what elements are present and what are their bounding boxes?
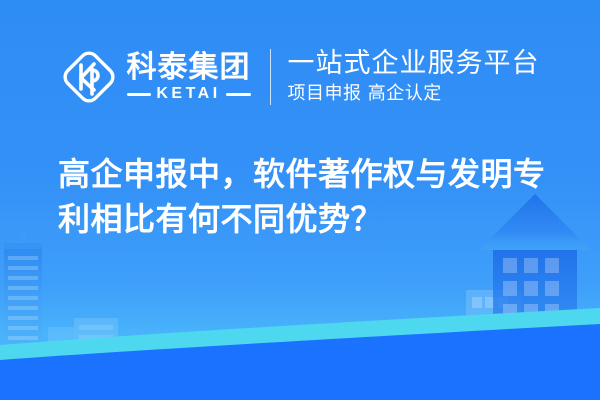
tagline-main: 一站式企业服务平台 xyxy=(288,49,540,79)
building-left-low-block xyxy=(48,318,118,359)
foot-plate xyxy=(0,324,600,400)
promo-banner: 科泰集团 KETAI 一站式企业服务平台 项目申报 高企认定 高企申报中，软件著… xyxy=(0,0,600,400)
brand-logo[interactable]: 科泰集团 KETAI xyxy=(61,49,251,105)
wordmark-rule-left xyxy=(127,93,152,96)
brand-name-cn: 科泰集团 xyxy=(127,52,251,84)
brand-name-en: KETAI xyxy=(156,86,220,102)
header-divider xyxy=(270,49,271,105)
wordmark-rule-right xyxy=(226,93,251,96)
headline-title: 高企申报中，软件著作权与发明专利相比有何不同优势？ xyxy=(58,152,570,243)
ketai-kp-monogram-icon xyxy=(61,49,117,105)
tagline-sub: 项目申报 高企认定 xyxy=(288,83,540,105)
cyan-curve-accent xyxy=(0,308,600,366)
brand-tagline: 一站式企业服务平台 项目申报 高企认定 xyxy=(288,49,540,105)
building-left-tower xyxy=(4,232,42,358)
banner-header: 科泰集团 KETAI 一站式企业服务平台 项目申报 高企认定 xyxy=(0,38,600,116)
building-right-mid-block xyxy=(466,290,521,370)
brand-wordmark: 科泰集团 KETAI xyxy=(127,52,251,103)
